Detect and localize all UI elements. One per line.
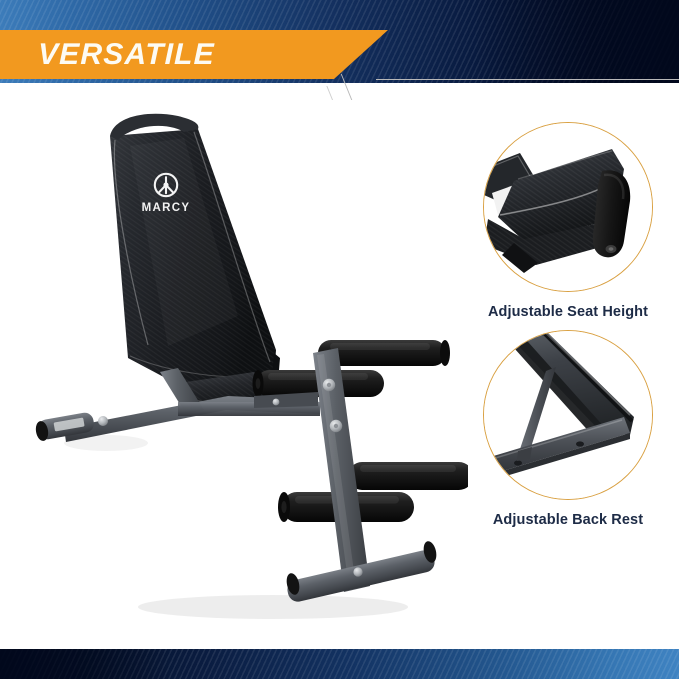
- divider-diagonal-segment-lower: [326, 86, 368, 100]
- marketing-image-canvas: VERSATILE: [0, 0, 679, 679]
- callout-adjustable-seat-height: Adjustable Seat Height: [468, 122, 668, 320]
- banner-title: VERSATILE: [38, 40, 215, 70]
- callout-adjustable-back-rest: Adjustable Back Rest: [468, 330, 668, 528]
- backrest-pad: [110, 114, 280, 391]
- svg-text:MARCY: MARCY: [142, 202, 191, 214]
- product-image-weight-bench: MARCY: [18, 110, 468, 630]
- footer-bar: [0, 649, 679, 679]
- callout-back-rest-image: [483, 330, 653, 500]
- callout-seat-height-label: Adjustable Seat Height: [468, 304, 668, 320]
- footer-dark-overlay: [0, 649, 170, 679]
- versatile-banner: VERSATILE: [0, 30, 388, 79]
- header-dark-overlay: [475, 0, 679, 83]
- divider-horizontal-segment: [376, 79, 679, 80]
- header-divider-rule: [0, 74, 679, 100]
- callout-seat-height-image: [483, 122, 653, 292]
- lower-foam-rollers: [278, 462, 468, 522]
- upper-foam-rollers: [253, 340, 451, 397]
- callout-back-rest-label: Adjustable Back Rest: [468, 512, 668, 528]
